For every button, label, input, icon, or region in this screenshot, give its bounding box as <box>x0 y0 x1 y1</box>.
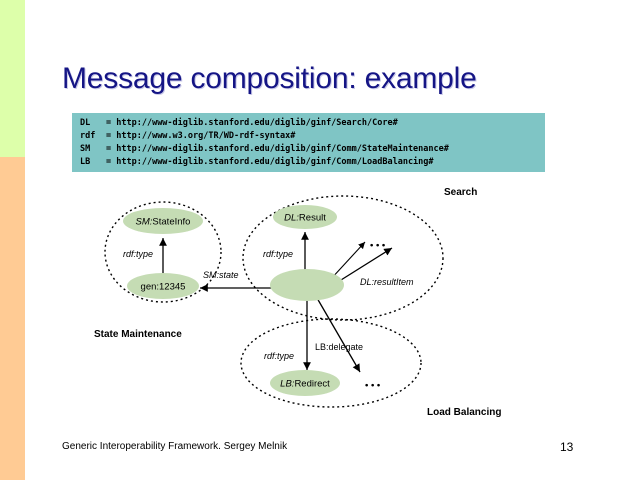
edge-label-dl-resultitem: DL:resultItem <box>360 277 414 287</box>
node-dl-result-prefix: DL: <box>284 213 299 224</box>
rdf-graph-diagram: SM:StateInfo gen:12345 DL:Result LB:Redi… <box>0 180 640 425</box>
accent-band-top <box>0 0 25 157</box>
namespace-equals: = <box>106 144 111 154</box>
region-label-load-balancing: Load Balancing <box>427 407 501 418</box>
namespace-prefix: SM <box>80 143 106 156</box>
namespace-uri: http://www-diglib.stanford.edu/diglib/gi… <box>116 118 397 128</box>
namespace-equals: = <box>106 157 111 167</box>
namespace-equals: = <box>106 118 111 128</box>
namespace-uri: http://www-diglib.stanford.edu/diglib/gi… <box>116 157 433 167</box>
edge-label-dl-rdftype: rdf:type <box>263 249 293 259</box>
namespace-row: SM= http://www-diglib.stanford.edu/digli… <box>80 143 545 156</box>
namespace-equals: = <box>106 131 111 141</box>
namespace-prefix: LB <box>80 156 106 169</box>
edge-dl-resultitem-a <box>330 242 365 280</box>
region-label-search: Search <box>444 187 477 198</box>
footer-page-number: 13 <box>560 440 573 454</box>
slide-canvas: Message composition: example DL= http://… <box>0 0 640 480</box>
edge-lb-delegate <box>317 298 360 372</box>
footer-attribution: Generic Interoperability Framework. Serg… <box>62 441 287 452</box>
node-hub[interactable] <box>270 269 344 301</box>
region-ellipse-load-balancing <box>241 319 421 407</box>
ellipsis-search: • • • <box>370 240 386 251</box>
namespace-uri: http://www-diglib.stanford.edu/diglib/gi… <box>116 144 449 154</box>
edge-label-lb-delegate: LB:delegate <box>315 342 363 352</box>
namespace-prefix: DL <box>80 117 106 130</box>
edge-label-sm-rdftype: rdf:type <box>123 249 153 259</box>
namespace-row: rdf= http://www.w3.org/TR/WD-rdf-syntax# <box>80 130 545 143</box>
node-dl-result-name: Result <box>299 213 326 224</box>
node-lb-redirect-prefix: LB: <box>280 379 295 390</box>
page-title: Message composition: example <box>62 62 582 96</box>
node-lb-redirect-name: Redirect <box>294 379 330 390</box>
node-sm-stateinfo-prefix: SM: <box>136 217 153 228</box>
edge-label-lb-rdftype: rdf:type <box>264 351 294 361</box>
namespace-code-block: DL= http://www-diglib.stanford.edu/digli… <box>72 113 545 172</box>
namespace-row: LB= http://www-diglib.stanford.edu/digli… <box>80 156 545 169</box>
namespace-prefix: rdf <box>80 130 106 143</box>
ellipsis-load-balancing: • • • <box>365 380 381 391</box>
namespace-row: DL= http://www-diglib.stanford.edu/digli… <box>80 117 545 130</box>
node-lb-redirect-label: LB:Redirect <box>280 379 330 390</box>
node-sm-stateinfo-name: StateInfo <box>152 217 190 228</box>
edge-label-sm-state: SM:state <box>203 270 239 280</box>
namespace-uri: http://www.w3.org/TR/WD-rdf-syntax# <box>116 131 295 141</box>
region-label-state-maintenance: State Maintenance <box>94 329 182 340</box>
node-gen-12345-label: gen:12345 <box>141 282 186 293</box>
node-dl-result-label: DL:Result <box>284 213 326 224</box>
node-sm-stateinfo-label: SM:StateInfo <box>136 217 191 228</box>
